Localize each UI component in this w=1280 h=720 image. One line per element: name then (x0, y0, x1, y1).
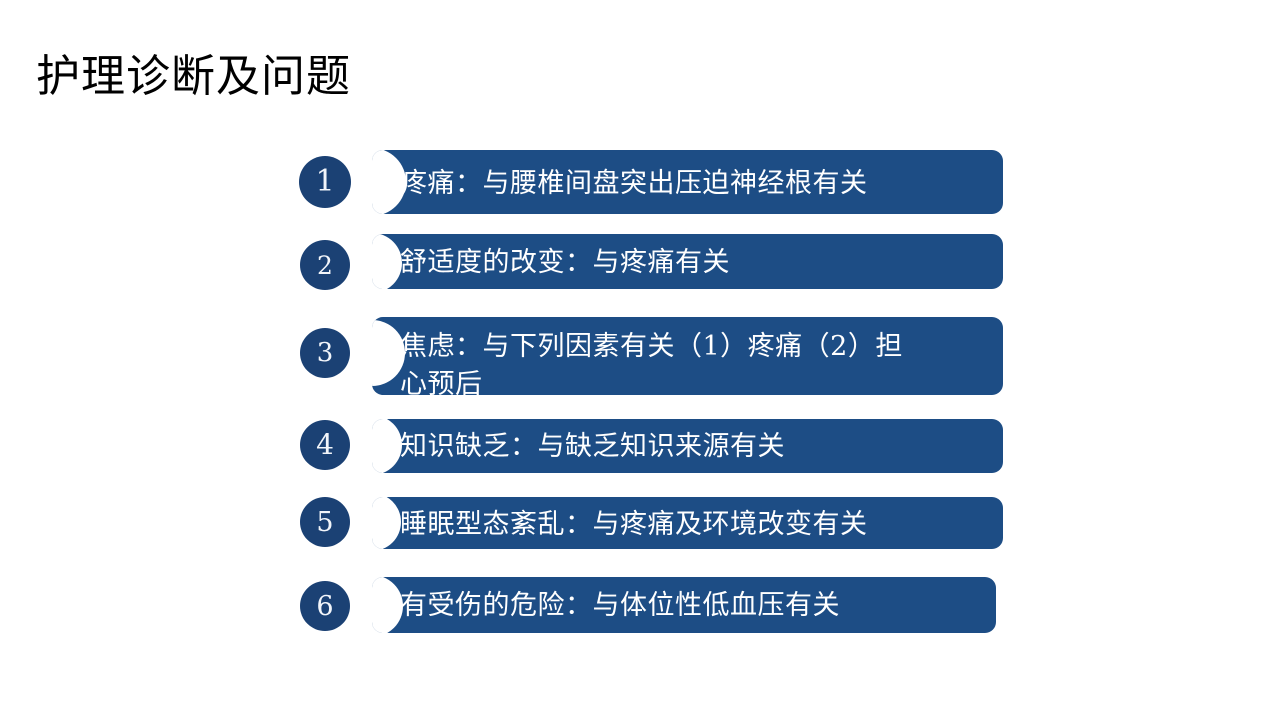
item-number: 5 (316, 509, 333, 536)
item-label: 焦虑：与下列因素有关（1）疼痛（2）担 心预后 (400, 328, 995, 404)
bar-notch-shape (372, 419, 402, 473)
item-number-badge[interactable]: 4 (300, 420, 350, 470)
bar-notch-shape (372, 234, 402, 289)
item-label: 舒适度的改变：与疼痛有关 (400, 244, 995, 282)
bar-notch-shape (372, 497, 401, 549)
nursing-diagnosis-list: 疼痛：与腰椎间盘突出压迫神经根有关 1 舒适度的改变：与疼痛有关 2 焦虑：与下… (0, 0, 1280, 720)
slide-canvas: 护理诊断及问题 疼痛：与腰椎间盘突出压迫神经根有关 1 舒适度的改变：与疼痛有关… (0, 0, 1280, 720)
item-number-badge[interactable]: 1 (299, 156, 351, 208)
item-number: 2 (317, 253, 333, 278)
item-number: 6 (316, 593, 333, 620)
item-number-badge[interactable]: 3 (300, 328, 350, 378)
item-label: 疼痛：与腰椎间盘突出压迫神经根有关 (400, 165, 995, 203)
item-number-badge[interactable]: 5 (300, 497, 350, 547)
item-label: 睡眠型态紊乱：与疼痛及环境改变有关 (400, 506, 995, 544)
item-number-badge[interactable]: 6 (300, 581, 350, 631)
item-number-badge[interactable]: 2 (300, 240, 350, 290)
item-label: 有受伤的危险：与体位性低血压有关 (400, 587, 988, 625)
item-number: 3 (317, 340, 334, 366)
item-number: 1 (315, 167, 334, 197)
item-label: 知识缺乏：与缺乏知识来源有关 (400, 428, 995, 466)
item-number: 4 (316, 431, 334, 459)
bar-notch-shape (372, 577, 403, 633)
